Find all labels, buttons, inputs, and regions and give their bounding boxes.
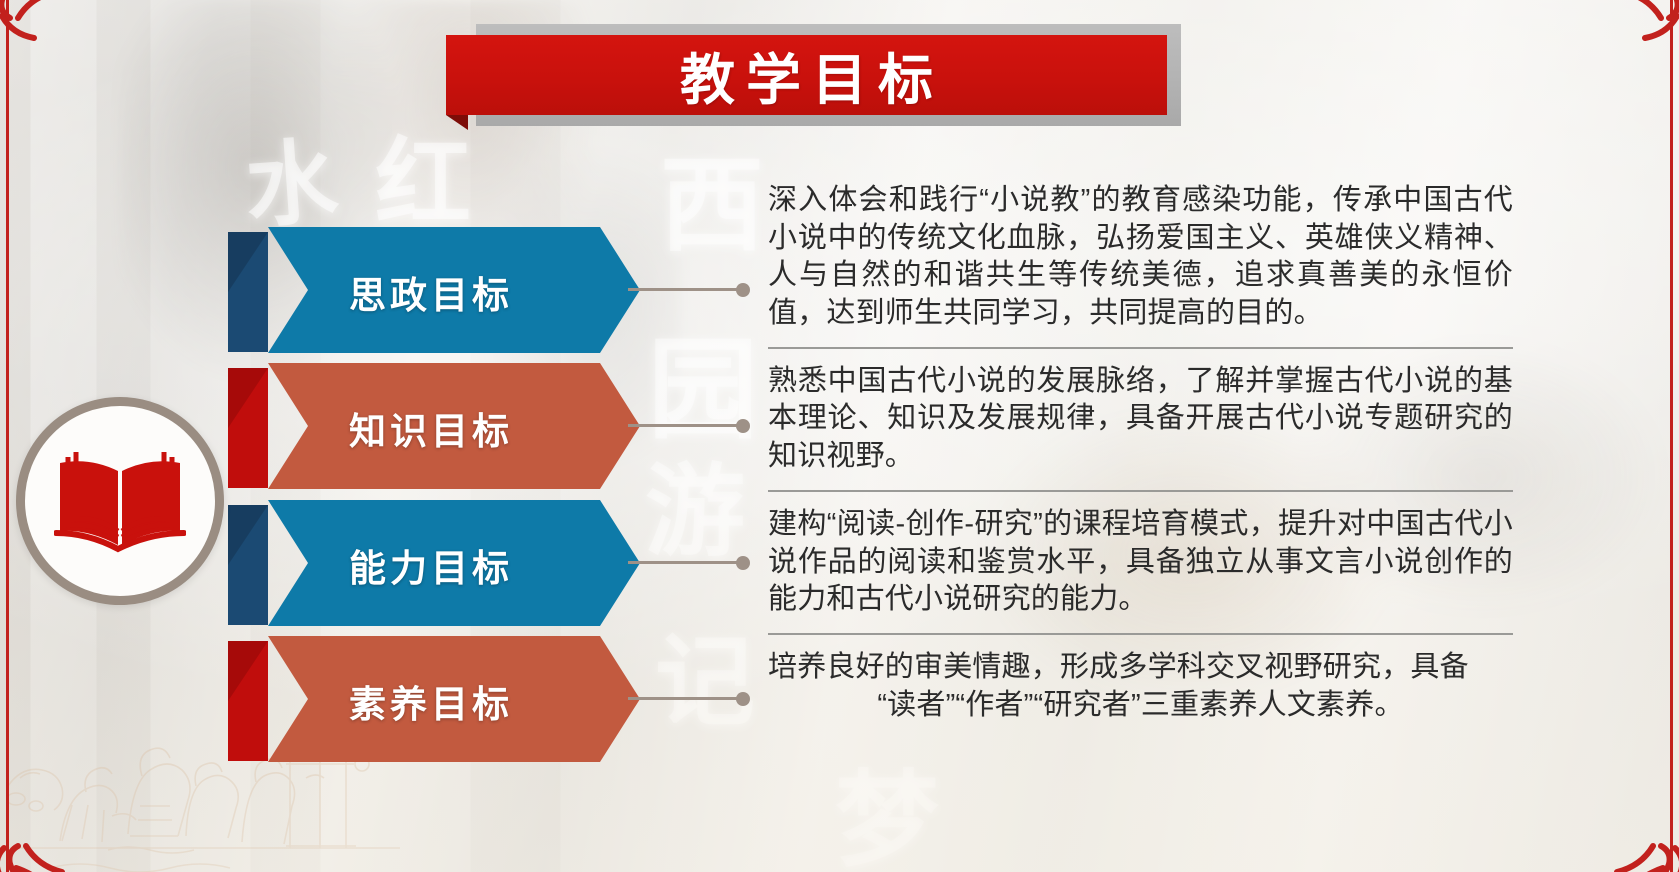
goal-text-3-line2: “读者”“作者”“研究者”三重素养人文素养。	[768, 687, 1513, 725]
connector-dot-2	[736, 556, 750, 570]
text-divider-1	[768, 490, 1513, 492]
goal-label-2[interactable]: 能力目标	[345, 538, 513, 592]
book-badge	[16, 397, 224, 605]
connector-dot-3	[736, 692, 750, 706]
goal-label-0[interactable]: 思政目标	[345, 265, 513, 319]
text-divider-2	[768, 633, 1513, 635]
goal-text-2: 建构“阅读-创作-研究”的课程培育模式，提升对中国古代小说作品的阅读和鉴赏水平，…	[768, 506, 1513, 619]
corner-ornament-top-right-icon	[1607, 0, 1679, 66]
goal-text-3-line1: 培养良好的审美情趣，形成多学科交叉视野研究，具备	[768, 649, 1513, 687]
goal-text-block-0: 深入体会和践行“小说教”的教育感染功能，传承中国古代小说中的传统文化血脉，弘扬爱…	[768, 182, 1513, 333]
corner-ornament-bottom-left-icon	[0, 798, 80, 872]
goal-label-1[interactable]: 知识目标	[345, 401, 513, 455]
goal-text-block-3: 培养良好的审美情趣，形成多学科交叉视野研究，具备 “读者”“作者”“研究者”三重…	[768, 649, 1513, 724]
connector-line-1	[628, 424, 738, 427]
open-book-icon	[54, 449, 186, 553]
frame-border-left	[6, 0, 9, 872]
goal-label-3[interactable]: 素养目标	[345, 674, 513, 728]
page-title: 教学目标	[446, 35, 1167, 115]
connector-line-3	[628, 697, 738, 700]
title-banner: 教学目标	[446, 24, 1181, 126]
connector-dot-1	[736, 419, 750, 433]
connector-line-2	[628, 561, 738, 564]
slide-canvas: 水 红 西 园 游 记 梦	[0, 0, 1679, 872]
corner-ornament-bottom-right-icon	[1599, 798, 1679, 872]
connector-line-0	[628, 288, 738, 291]
goal-text-block-2: 建构“阅读-创作-研究”的课程培育模式，提升对中国古代小说作品的阅读和鉴赏水平，…	[768, 506, 1513, 619]
goal-text-column: 深入体会和践行“小说教”的教育感染功能，传承中国古代小说中的传统文化血脉，弘扬爱…	[768, 182, 1513, 724]
goal-text-block-1: 熟悉中国古代小说的发展脉络，了解并掌握古代小说的基本理论、知识及发展规律，具备开…	[768, 363, 1513, 476]
text-divider-0	[768, 347, 1513, 349]
connector-dot-0	[736, 283, 750, 297]
goal-text-1: 熟悉中国古代小说的发展脉络，了解并掌握古代小说的基本理论、知识及发展规律，具备开…	[768, 363, 1513, 476]
title-banner-fold	[446, 115, 468, 130]
goal-text-0: 深入体会和践行“小说教”的教育感染功能，传承中国古代小说中的传统文化血脉，弘扬爱…	[768, 182, 1513, 333]
corner-ornament-top-left-icon	[0, 0, 72, 66]
frame-border-right	[1670, 0, 1673, 872]
